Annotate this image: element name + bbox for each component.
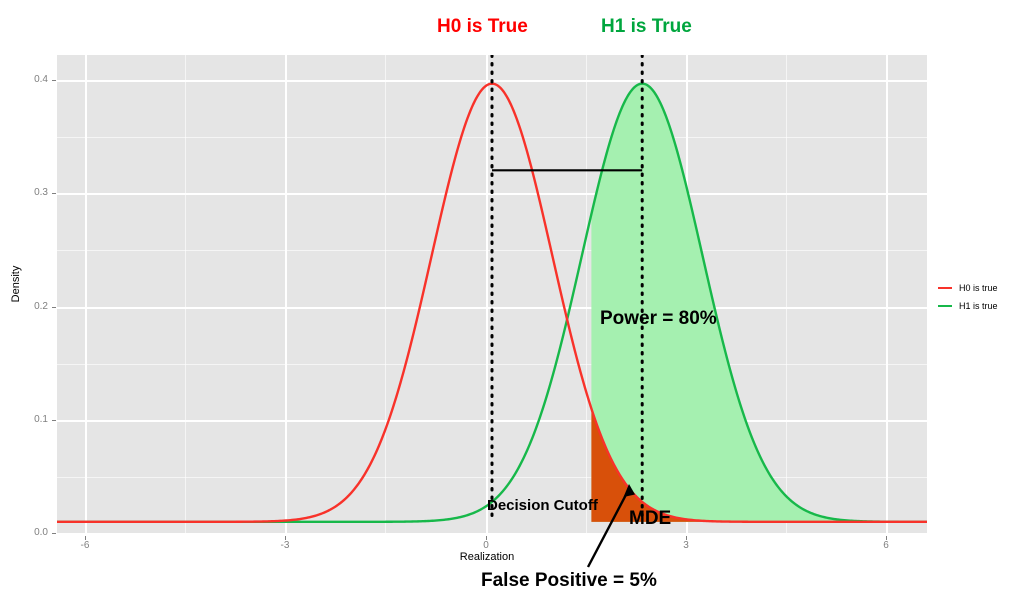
y-tick-label-4: 0.4 bbox=[14, 74, 48, 85]
distribution-curves bbox=[57, 55, 927, 535]
legend-item-h1[interactable]: H1 is true bbox=[936, 297, 1012, 315]
legend: H0 is true H1 is true bbox=[936, 279, 1012, 315]
false-positive-annotation: False Positive = 5% bbox=[481, 570, 657, 592]
y-tick-mark-4 bbox=[52, 80, 56, 81]
x-tick-label-0: 0 bbox=[466, 540, 506, 551]
x-tick-label-3: 3 bbox=[666, 540, 706, 551]
h0-title: H0 is True bbox=[437, 16, 528, 38]
power-annotation: Power = 80% bbox=[600, 308, 717, 330]
y-axis-title: Density bbox=[10, 254, 22, 314]
plot-panel: Power = 80% Decision Cutoff bbox=[57, 55, 927, 535]
x-tick-label-6: 6 bbox=[866, 540, 906, 551]
y-tick-label-1: 0.1 bbox=[14, 414, 48, 425]
legend-item-h0[interactable]: H0 is true bbox=[936, 279, 1012, 297]
legend-label-h0: H0 is true bbox=[959, 283, 998, 293]
y-tick-mark-1 bbox=[52, 420, 56, 421]
y-tick-mark-2 bbox=[52, 307, 56, 308]
legend-key-h1-icon bbox=[936, 298, 954, 315]
x-tick-label--3: -3 bbox=[265, 540, 305, 551]
y-tick-mark-0 bbox=[52, 533, 56, 534]
h1-title: H1 is True bbox=[601, 16, 692, 38]
decision-cutoff-annotation: Decision Cutoff bbox=[487, 497, 598, 514]
y-tick-mark-3 bbox=[52, 193, 56, 194]
y-tick-label-3: 0.3 bbox=[14, 187, 48, 198]
y-tick-label-0: 0.0 bbox=[14, 527, 48, 538]
power-analysis-figure: H0 is True H1 is True bbox=[0, 0, 1017, 600]
legend-key-h0-icon bbox=[936, 280, 954, 297]
x-tick-label--6: -6 bbox=[65, 540, 105, 551]
legend-label-h1: H1 is true bbox=[959, 301, 998, 311]
mde-annotation: MDE bbox=[629, 508, 671, 530]
x-axis-title: Realization bbox=[422, 551, 552, 563]
